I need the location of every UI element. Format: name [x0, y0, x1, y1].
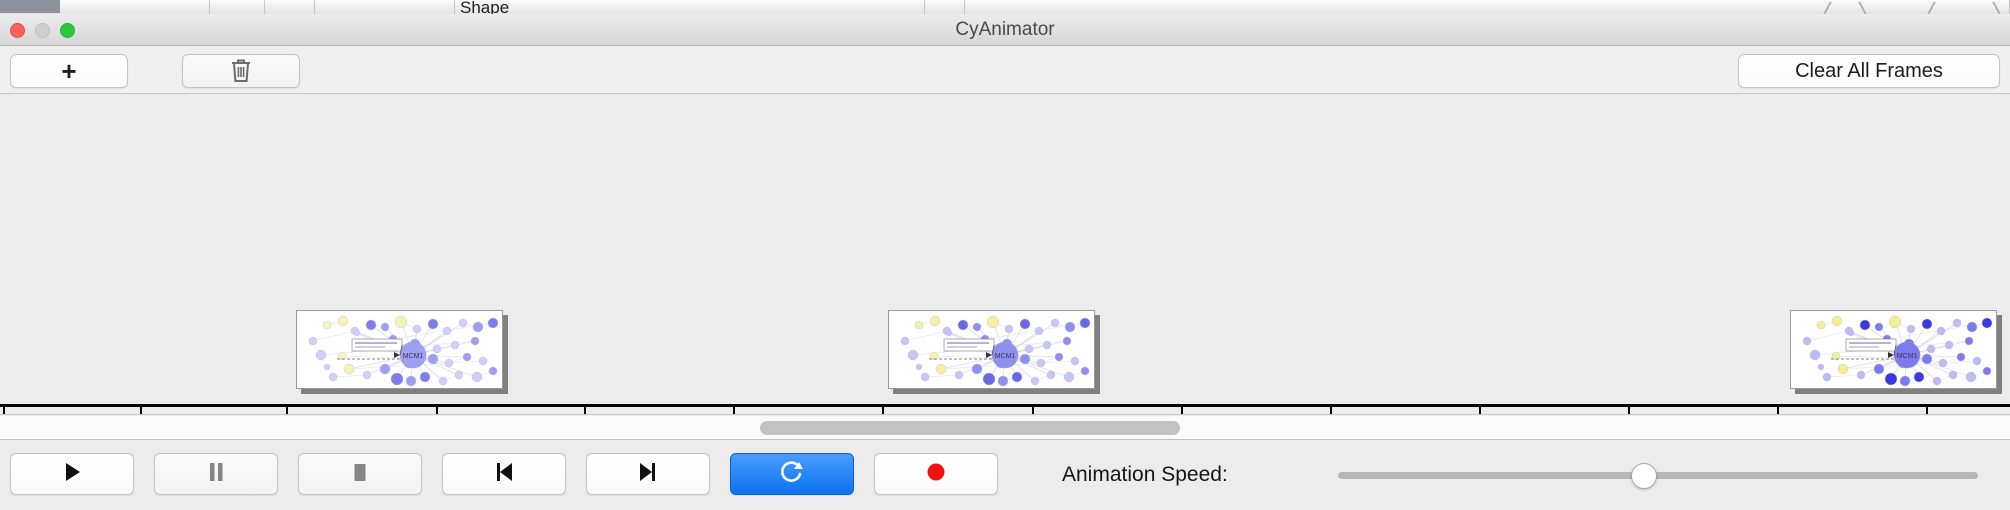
axis-tick: [1926, 406, 1928, 415]
axis-tick: [882, 406, 884, 415]
axis-tick: [436, 406, 438, 415]
axis-tick: [1330, 406, 1332, 415]
trash-icon: [230, 58, 252, 84]
cyanimator-window: Shape CyAnimator + Clear All Frames: [0, 0, 2010, 510]
traffic-light-group: [10, 23, 75, 38]
skip-forward-icon: [635, 459, 661, 490]
add-frame-button[interactable]: +: [10, 54, 128, 88]
timeline-panel[interactable]: MCM1 MCM1 MCM1 2131415161718 Seconds: [0, 95, 2010, 415]
axis-tick: [1032, 406, 1034, 415]
window-title: CyAnimator: [0, 14, 2010, 46]
scrollbar-thumb[interactable]: [760, 421, 1180, 435]
toolbar: + Clear All Frames: [0, 46, 2010, 94]
axis-tick: [140, 406, 142, 415]
pause-icon: [203, 459, 229, 490]
animation-speed-label: Animation Speed:: [1062, 463, 1228, 487]
frame-thumbnail-2[interactable]: MCM1: [888, 310, 1100, 392]
background-window-strip: Shape: [0, 0, 2010, 14]
maximize-button[interactable]: [60, 23, 75, 38]
delete-frame-button[interactable]: [182, 54, 300, 88]
axis-tick: [584, 406, 586, 415]
record-icon: [923, 459, 949, 490]
clear-all-frames-label: Clear All Frames: [1795, 60, 1943, 83]
svg-text:MCM1: MCM1: [995, 353, 1016, 360]
play-button[interactable]: [10, 453, 134, 495]
animation-speed-slider[interactable]: [1338, 472, 1978, 479]
svg-text:MCM1: MCM1: [1897, 353, 1918, 360]
stop-button[interactable]: [298, 453, 422, 495]
skip-to-end-button[interactable]: [586, 453, 710, 495]
horizontal-scrollbar[interactable]: [0, 416, 2010, 440]
axis-tick: [3, 406, 5, 415]
skip-to-start-button[interactable]: [442, 453, 566, 495]
axis-tick: [1628, 406, 1630, 415]
svg-text:MCM1: MCM1: [403, 353, 424, 360]
loop-icon: [779, 459, 805, 490]
animation-speed-knob[interactable]: [1631, 463, 1657, 489]
playback-toolbar: Animation Speed:: [0, 441, 2010, 510]
frame-network-preview: MCM1: [1790, 310, 1997, 389]
pause-button[interactable]: [154, 453, 278, 495]
play-icon: [59, 459, 85, 490]
background-window-titlebar: [0, 0, 60, 13]
skip-back-icon: [491, 459, 517, 490]
close-button[interactable]: [10, 23, 25, 38]
axis-tick: [1479, 406, 1481, 415]
axis-tick: [1777, 406, 1779, 415]
axis-tick: [733, 406, 735, 415]
frame-network-preview: MCM1: [296, 310, 503, 389]
title-bar: CyAnimator: [0, 14, 2010, 46]
frame-thumbnail-1[interactable]: MCM1: [296, 310, 508, 392]
record-button[interactable]: [874, 453, 998, 495]
stop-icon: [347, 459, 373, 490]
background-window-label: Shape: [460, 0, 509, 14]
axis-tick: [1181, 406, 1183, 415]
plus-icon: +: [61, 58, 76, 84]
frame-thumbnail-3[interactable]: MCM1: [1790, 310, 2002, 392]
loop-button[interactable]: [730, 453, 854, 495]
axis-tick: [286, 406, 288, 415]
frame-network-preview: MCM1: [888, 310, 1095, 389]
timeline-axis: [0, 404, 2010, 407]
minimize-button[interactable]: [35, 23, 50, 38]
clear-all-frames-button[interactable]: Clear All Frames: [1738, 54, 2000, 88]
